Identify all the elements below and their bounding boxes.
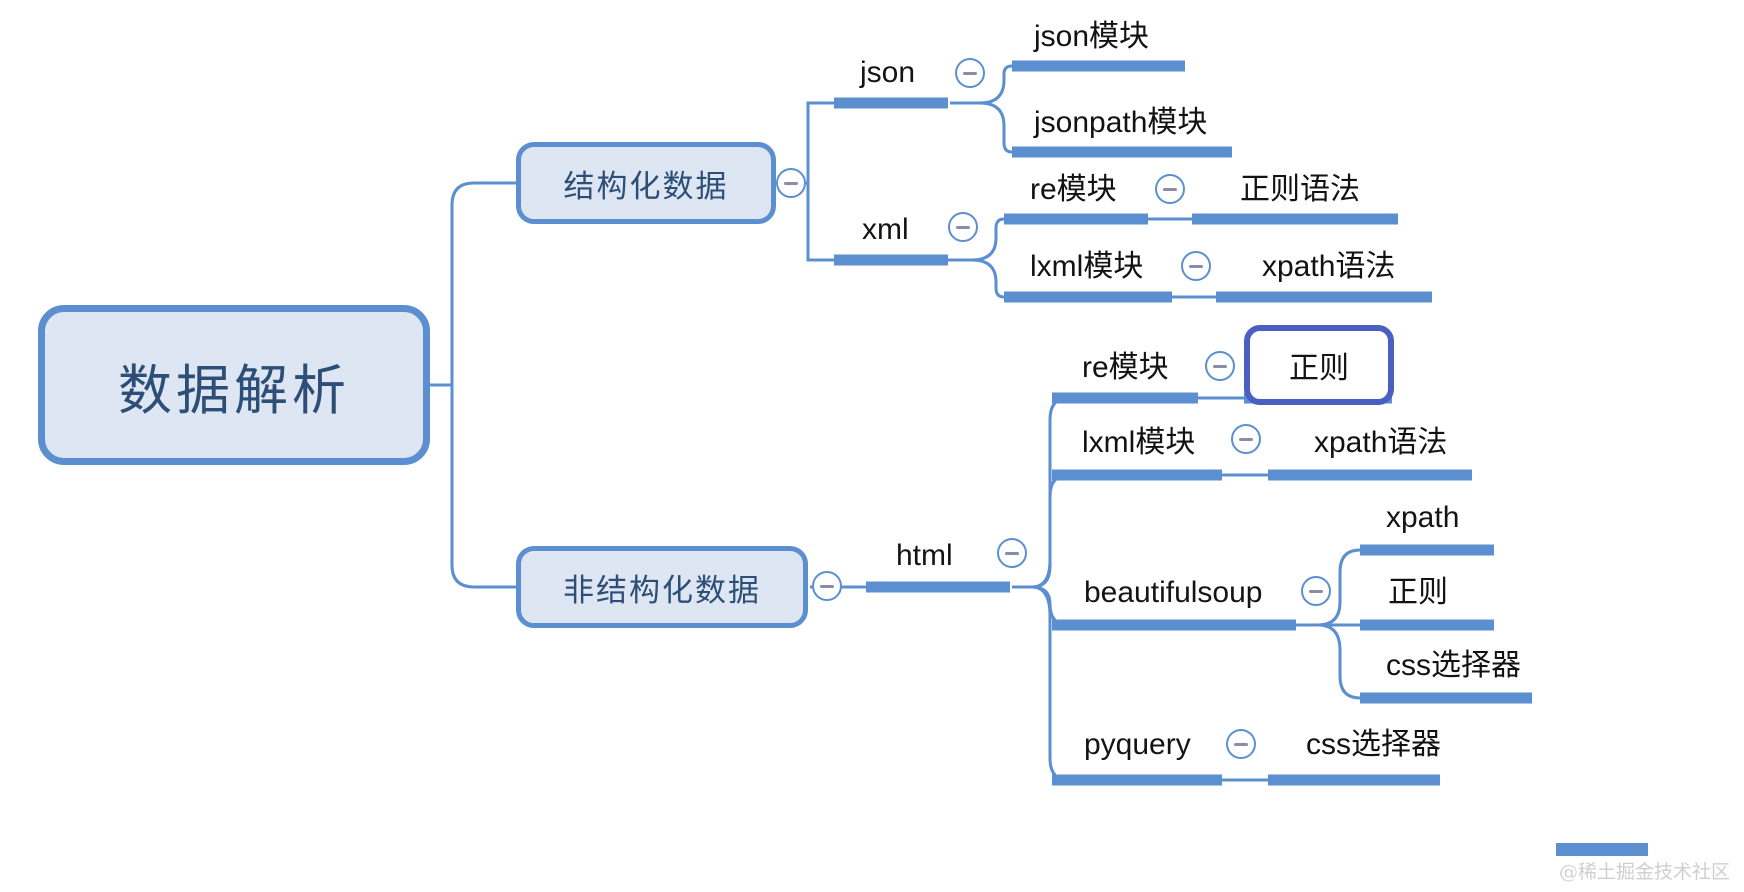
collapse-toggle-beautifulsoup[interactable] [1301,576,1331,606]
node-xml-regex-syntax-label[interactable]: 正则语法 [1240,175,1360,205]
collapse-toggle-xml[interactable] [948,212,978,242]
collapse-toggle-html-lxml-module[interactable] [1231,424,1261,454]
node-xml-xpath-syntax-label[interactable]: xpath语法 [1262,252,1395,282]
node-pyquery-css-selector-label[interactable]: css选择器 [1306,730,1441,760]
collapse-toggle-unstructured[interactable] [812,571,842,601]
node-xml-label[interactable]: xml [862,215,909,245]
collapse-toggle-pyquery[interactable] [1226,729,1256,759]
node-html-re-regex-selected[interactable]: 正则 [1244,325,1394,405]
node-pyquery-label[interactable]: pyquery [1084,730,1191,760]
node-structured-data-label: 结构化数据 [564,161,729,206]
mindmap-canvas: 数据解析 结构化数据 非结构化数据 正则 json json模块 jsonpat… [0,0,1744,892]
node-structured-data[interactable]: 结构化数据 [516,142,776,224]
node-bs-regex-label[interactable]: 正则 [1388,578,1448,608]
node-json-module-label[interactable]: json模块 [1034,22,1149,52]
node-unstructured-data[interactable]: 非结构化数据 [516,546,808,628]
root-node-label: 数据解析 [118,346,350,425]
collapse-toggle-structured[interactable] [776,168,806,198]
watermark-bar [1556,843,1648,856]
node-bs-xpath-label[interactable]: xpath [1386,503,1459,533]
node-unstructured-data-label: 非结构化数据 [563,565,761,610]
collapse-toggle-json[interactable] [955,58,985,88]
collapse-toggle-xml-lxml-module[interactable] [1181,251,1211,281]
collapse-toggle-html-re-module[interactable] [1205,351,1235,381]
node-html-label[interactable]: html [896,541,953,571]
node-xml-re-module-label[interactable]: re模块 [1030,175,1117,205]
node-html-lxml-module-label[interactable]: lxml模块 [1082,428,1195,458]
node-html-xpath-syntax-label[interactable]: xpath语法 [1314,428,1447,458]
root-node[interactable]: 数据解析 [38,305,430,465]
node-html-re-regex-selected-label: 正则 [1289,343,1349,387]
collapse-toggle-html[interactable] [997,538,1027,568]
collapse-toggle-xml-re-module[interactable] [1155,174,1185,204]
node-jsonpath-module-label[interactable]: jsonpath模块 [1034,108,1207,138]
node-html-re-module-label[interactable]: re模块 [1082,353,1169,383]
node-json-label[interactable]: json [860,58,915,88]
watermark-text: @稀土掘金技术社区 [1559,857,1730,884]
node-xml-lxml-module-label[interactable]: lxml模块 [1030,252,1143,282]
node-beautifulsoup-label[interactable]: beautifulsoup [1084,578,1262,608]
node-bs-css-selector-label[interactable]: css选择器 [1386,651,1521,681]
